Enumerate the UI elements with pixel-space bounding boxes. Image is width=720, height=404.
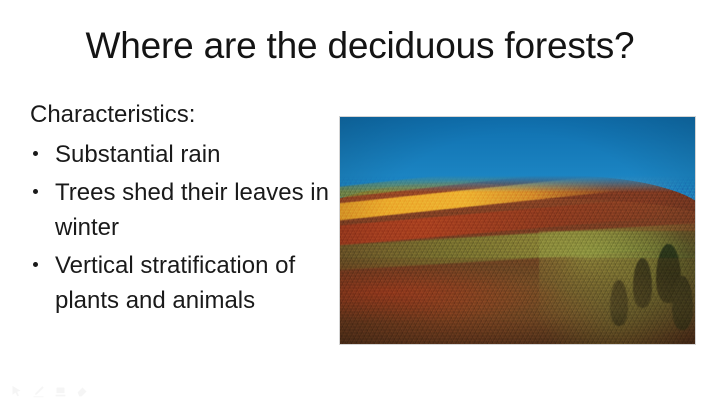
deciduous-forest-photo — [340, 117, 695, 344]
bullet-item: Vertical stratification of plants and an… — [30, 248, 330, 318]
bullet-item-label: Vertical stratification of plants and an… — [55, 252, 295, 314]
slide-title: Where are the deciduous forests? — [40, 24, 680, 68]
presentation-slide: Where are the deciduous forests? Charact… — [0, 0, 720, 404]
photo-vignette — [340, 117, 695, 344]
pen-icon[interactable] — [32, 385, 45, 398]
characteristics-bullet-list: Substantial rain Trees shed their leaves… — [30, 137, 330, 318]
bullet-item-label: Substantial rain — [55, 141, 220, 168]
bullet-dot-icon — [33, 151, 38, 156]
bullet-dot-icon — [33, 189, 38, 194]
bullet-item: Substantial rain — [30, 137, 330, 172]
bullet-item: Trees shed their leaves in winter — [30, 175, 330, 245]
bullet-dot-icon — [33, 262, 38, 267]
eraser-icon[interactable] — [76, 385, 89, 398]
slide-body-text: Characteristics: Substantial rain Trees … — [30, 100, 330, 321]
highlighter-icon[interactable] — [54, 385, 67, 398]
pointer-icon[interactable] — [10, 385, 23, 398]
characteristics-heading: Characteristics: — [30, 100, 330, 130]
bullet-item-label: Trees shed their leaves in winter — [55, 179, 329, 241]
annotation-toolbar[interactable] — [10, 385, 89, 398]
